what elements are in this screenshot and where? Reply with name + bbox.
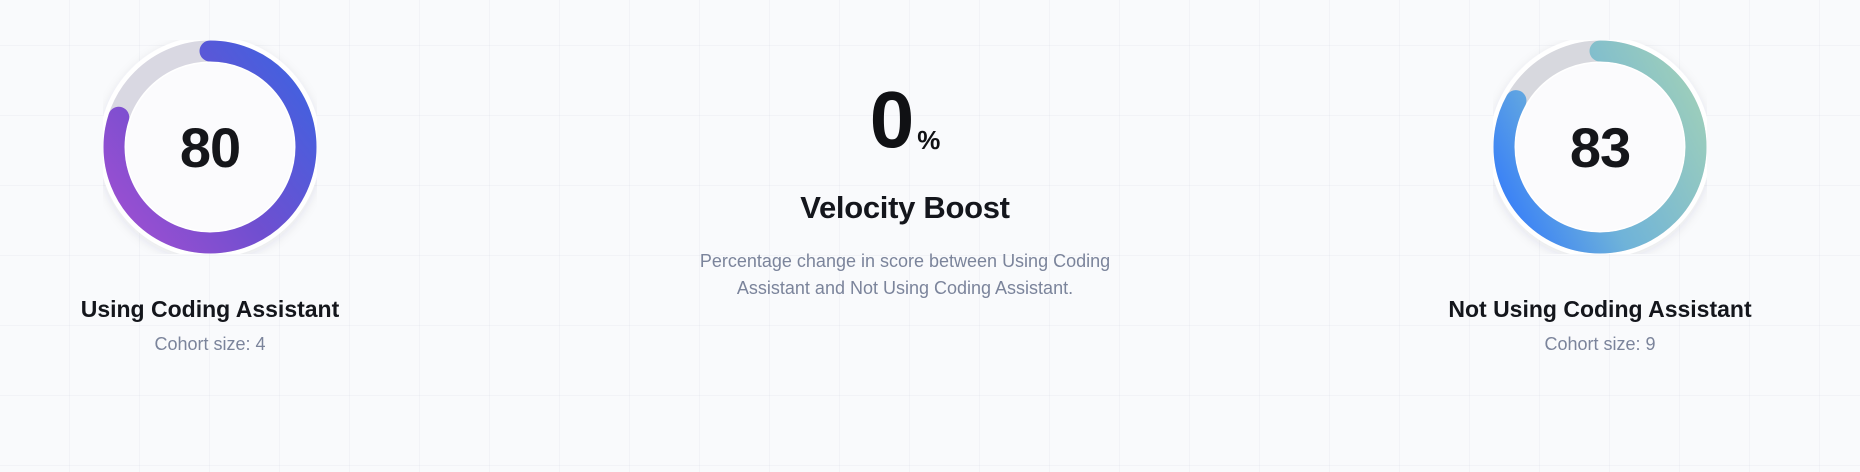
center-description: Percentage change in score between Using… — [670, 248, 1140, 302]
donut-gauge-right: 83 — [1493, 40, 1707, 254]
velocity-boost-comparison-widget: 80 Using Coding Assistant Cohort size: 4… — [0, 0, 1860, 472]
gauge-right-cohort-size: Cohort size: 9 — [1544, 334, 1655, 355]
gauge-right-value: 83 — [1493, 40, 1707, 254]
delta-value: 0 — [870, 80, 913, 160]
delta-unit: % — [917, 127, 940, 153]
gauge-left-cohort-size: Cohort size: 4 — [154, 334, 265, 355]
gauge-right-label: Not Using Coding Assistant — [1448, 296, 1751, 323]
velocity-boost-summary: 0 % Velocity Boost Percentage change in … — [595, 0, 1215, 302]
center-title: Velocity Boost — [800, 190, 1009, 226]
donut-gauge-left: 80 — [103, 40, 317, 254]
gauge-card-using-coding-assistant: 80 Using Coding Assistant Cohort size: 4 — [0, 0, 425, 355]
delta-row: 0 % — [870, 80, 941, 160]
gauge-left-label: Using Coding Assistant — [81, 296, 340, 323]
gauge-card-not-using-coding-assistant: 83 Not Using Coding Assistant Cohort siz… — [1385, 0, 1815, 355]
gauge-left-value: 80 — [103, 40, 317, 254]
